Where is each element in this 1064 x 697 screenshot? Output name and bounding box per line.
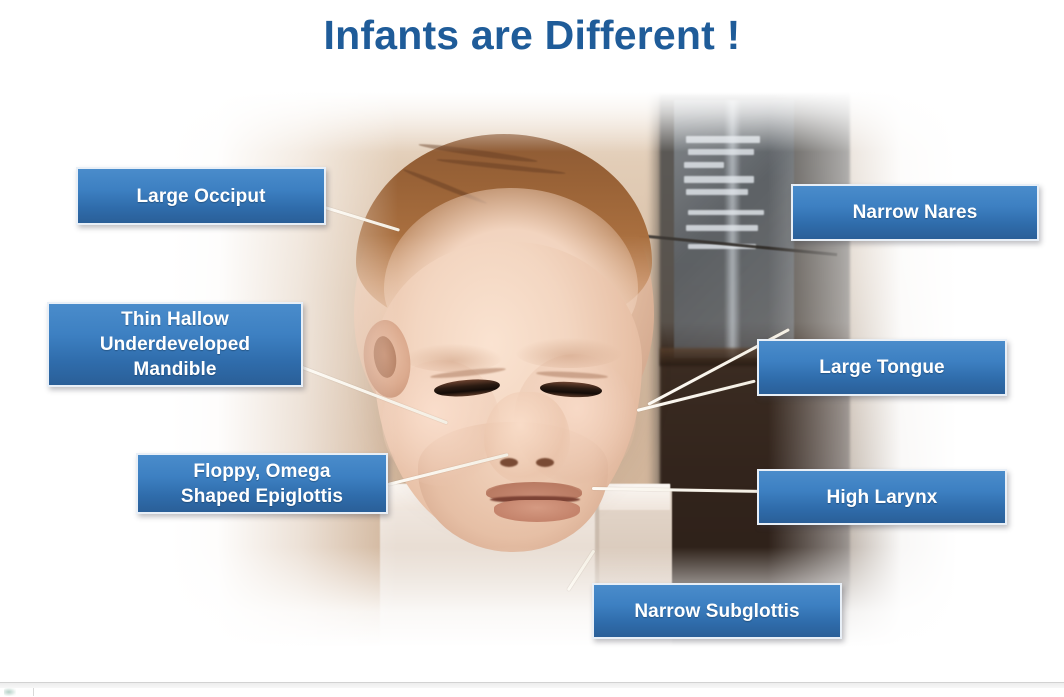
photo-blurred-sign-line bbox=[684, 162, 724, 168]
callout-label: Narrow Nares bbox=[853, 200, 978, 225]
photo-infant-nostril-left bbox=[500, 458, 518, 467]
slide-canvas: Infants are Different ! bbox=[0, 0, 1064, 682]
callout-narrow-subglottis[interactable]: Narrow Subglottis bbox=[592, 583, 842, 639]
callout-label: High Larynx bbox=[827, 485, 938, 510]
page-title: Infants are Different ! bbox=[0, 6, 1064, 64]
photo-blurred-sign-line bbox=[686, 189, 748, 195]
photo-blurred-sign-line bbox=[684, 176, 754, 183]
callout-large-occiput[interactable]: Large Occiput bbox=[76, 167, 326, 225]
photo-infant-brow-right bbox=[516, 338, 622, 368]
taskbar-divider bbox=[33, 688, 34, 696]
photo-blurred-sign-line bbox=[686, 225, 758, 231]
callout-high-larynx[interactable]: High Larynx bbox=[757, 469, 1007, 525]
bottom-chrome-inner bbox=[0, 683, 1064, 688]
callout-large-tongue[interactable]: Large Tongue bbox=[757, 339, 1007, 396]
callout-narrow-nares[interactable]: Narrow Nares bbox=[791, 184, 1039, 241]
photo-infant-nose bbox=[484, 392, 570, 484]
callout-floppy-omega-shaped-epiglottis[interactable]: Floppy, Omega Shaped Epiglottis bbox=[136, 453, 388, 514]
photo-infant-lower-lip bbox=[494, 500, 580, 522]
callout-label: Thin Hallow Underdeveloped Mandible bbox=[100, 307, 250, 382]
photo-blurred-sign-line bbox=[688, 210, 764, 215]
photo-infant-nostril-right bbox=[536, 458, 554, 467]
callout-label: Floppy, Omega Shaped Epiglottis bbox=[181, 459, 343, 509]
callout-label: Large Tongue bbox=[819, 355, 944, 380]
callout-label: Narrow Subglottis bbox=[634, 599, 799, 624]
callout-thin-hallow-underdeveloped-mandible[interactable]: Thin Hallow Underdeveloped Mandible bbox=[47, 302, 303, 387]
taskbar-icon[interactable] bbox=[4, 688, 16, 696]
callout-label: Large Occiput bbox=[136, 184, 265, 209]
